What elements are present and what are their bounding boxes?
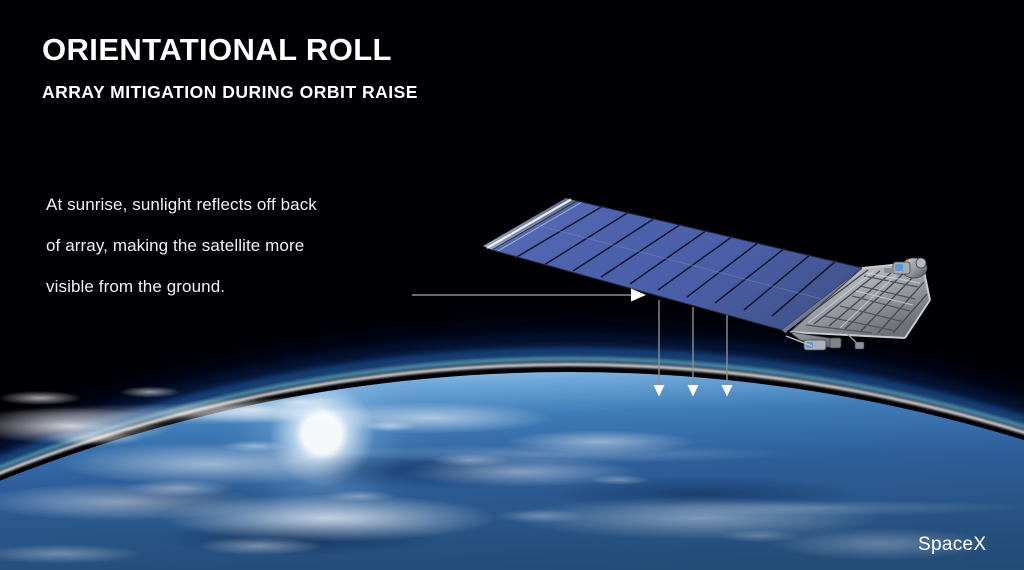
earth-surface xyxy=(0,372,1024,570)
caption-line: visible from the ground. xyxy=(46,266,446,307)
brand-wordmark: SpaceX xyxy=(918,534,986,556)
caption-line: of array, making the satellite more xyxy=(46,225,446,266)
page-title: ORIENTATIONAL ROLL xyxy=(42,34,392,67)
page-subtitle: ARRAY MITIGATION DURING ORBIT RAISE xyxy=(42,82,418,103)
caption-line: At sunrise, sunlight reflects off back xyxy=(46,184,446,225)
caption-text: At sunrise, sunlight reflects off back o… xyxy=(46,184,446,307)
slide-canvas: ORIENTATIONAL ROLL ARRAY MITIGATION DURI… xyxy=(0,0,1024,570)
